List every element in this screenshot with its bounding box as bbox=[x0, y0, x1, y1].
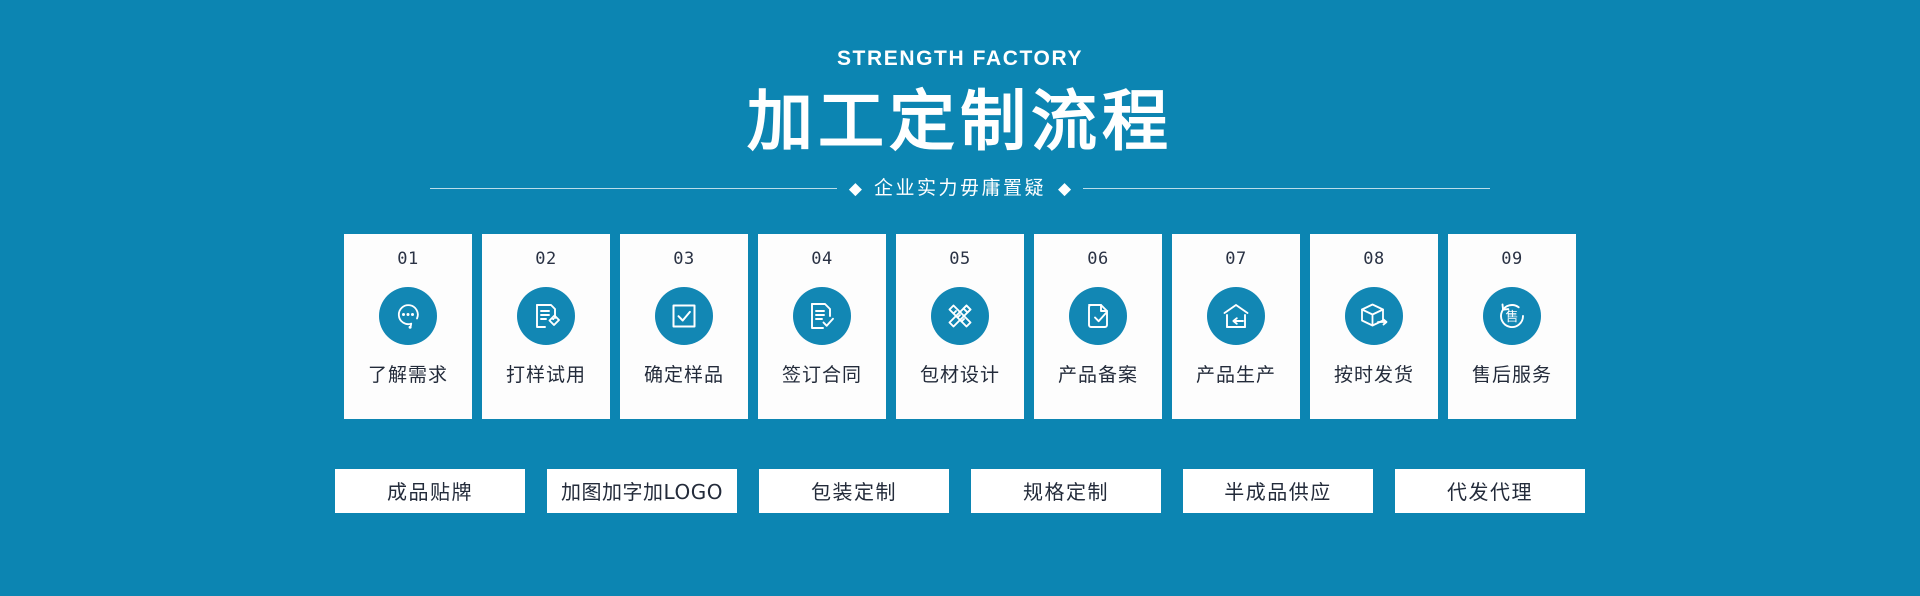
subtitle-row: ◆ 企业实力毋庸置疑 ◆ bbox=[430, 179, 1490, 198]
document-tag-icon bbox=[517, 287, 575, 345]
service-tag-button[interactable]: 包装定制 bbox=[759, 469, 949, 513]
process-step-card[interactable]: 02 打样试用 bbox=[482, 234, 610, 419]
divider-rule-left bbox=[430, 188, 837, 189]
step-label: 了解需求 bbox=[368, 366, 448, 385]
step-label: 打样试用 bbox=[506, 366, 586, 385]
page-header: STRENGTH FACTORY 加工定制流程 ◆ 企业实力毋庸置疑 ◆ bbox=[0, 0, 1920, 198]
headset-chat-icon bbox=[379, 287, 437, 345]
diamond-right-icon: ◆ bbox=[1046, 180, 1083, 197]
pencil-ruler-icon bbox=[931, 287, 989, 345]
process-step-card[interactable]: 04 签订合同 bbox=[758, 234, 886, 419]
step-number: 06 bbox=[1087, 251, 1108, 268]
step-number: 04 bbox=[811, 251, 832, 268]
process-step-card[interactable]: 08 按时发货 bbox=[1310, 234, 1438, 419]
step-label: 确定样品 bbox=[644, 366, 724, 385]
step-label: 产品生产 bbox=[1196, 366, 1276, 385]
diamond-left-icon: ◆ bbox=[837, 180, 874, 197]
step-label: 签订合同 bbox=[782, 366, 862, 385]
after-sales-refresh-icon: 售 bbox=[1483, 287, 1541, 345]
divider-rule-right bbox=[1083, 188, 1490, 189]
step-number: 03 bbox=[673, 251, 694, 268]
eyebrow-text: STRENGTH FACTORY bbox=[0, 48, 1920, 69]
process-step-card[interactable]: 09 售 售后服务 bbox=[1448, 234, 1576, 419]
step-label: 售后服务 bbox=[1472, 366, 1552, 385]
step-label: 包材设计 bbox=[920, 366, 1000, 385]
contract-check-icon bbox=[793, 287, 851, 345]
file-check-icon bbox=[1069, 287, 1127, 345]
service-tag-list: 成品贴牌 加图加字加LOGO 包装定制 规格定制 半成品供应 代发代理 bbox=[0, 469, 1920, 513]
process-step-list: 01 了解需求 02 打样试用 0 bbox=[0, 234, 1920, 419]
service-tag-button[interactable]: 代发代理 bbox=[1395, 469, 1585, 513]
process-step-card[interactable]: 06 产品备案 bbox=[1034, 234, 1162, 419]
service-tag-button[interactable]: 加图加字加LOGO bbox=[547, 469, 737, 513]
svg-text:售: 售 bbox=[1505, 309, 1518, 325]
step-number: 01 bbox=[397, 251, 418, 268]
step-label: 产品备案 bbox=[1058, 366, 1138, 385]
process-step-card[interactable]: 05 包材设计 bbox=[896, 234, 1024, 419]
step-number: 02 bbox=[535, 251, 556, 268]
subtitle-text: 企业实力毋庸置疑 bbox=[874, 179, 1046, 198]
service-tag-button[interactable]: 半成品供应 bbox=[1183, 469, 1373, 513]
box-ship-icon bbox=[1345, 287, 1403, 345]
process-step-card[interactable]: 03 确定样品 bbox=[620, 234, 748, 419]
step-number: 08 bbox=[1363, 251, 1384, 268]
step-label: 按时发货 bbox=[1334, 366, 1414, 385]
step-number: 09 bbox=[1501, 251, 1522, 268]
page-title: 加工定制流程 bbox=[0, 83, 1920, 161]
process-step-card[interactable]: 01 了解需求 bbox=[344, 234, 472, 419]
step-number: 07 bbox=[1225, 251, 1246, 268]
factory-arrow-icon bbox=[1207, 287, 1265, 345]
step-number: 05 bbox=[949, 251, 970, 268]
checkbox-square-icon bbox=[655, 287, 713, 345]
service-tag-button[interactable]: 成品贴牌 bbox=[335, 469, 525, 513]
process-step-card[interactable]: 07 产品生产 bbox=[1172, 234, 1300, 419]
service-tag-button[interactable]: 规格定制 bbox=[971, 469, 1161, 513]
